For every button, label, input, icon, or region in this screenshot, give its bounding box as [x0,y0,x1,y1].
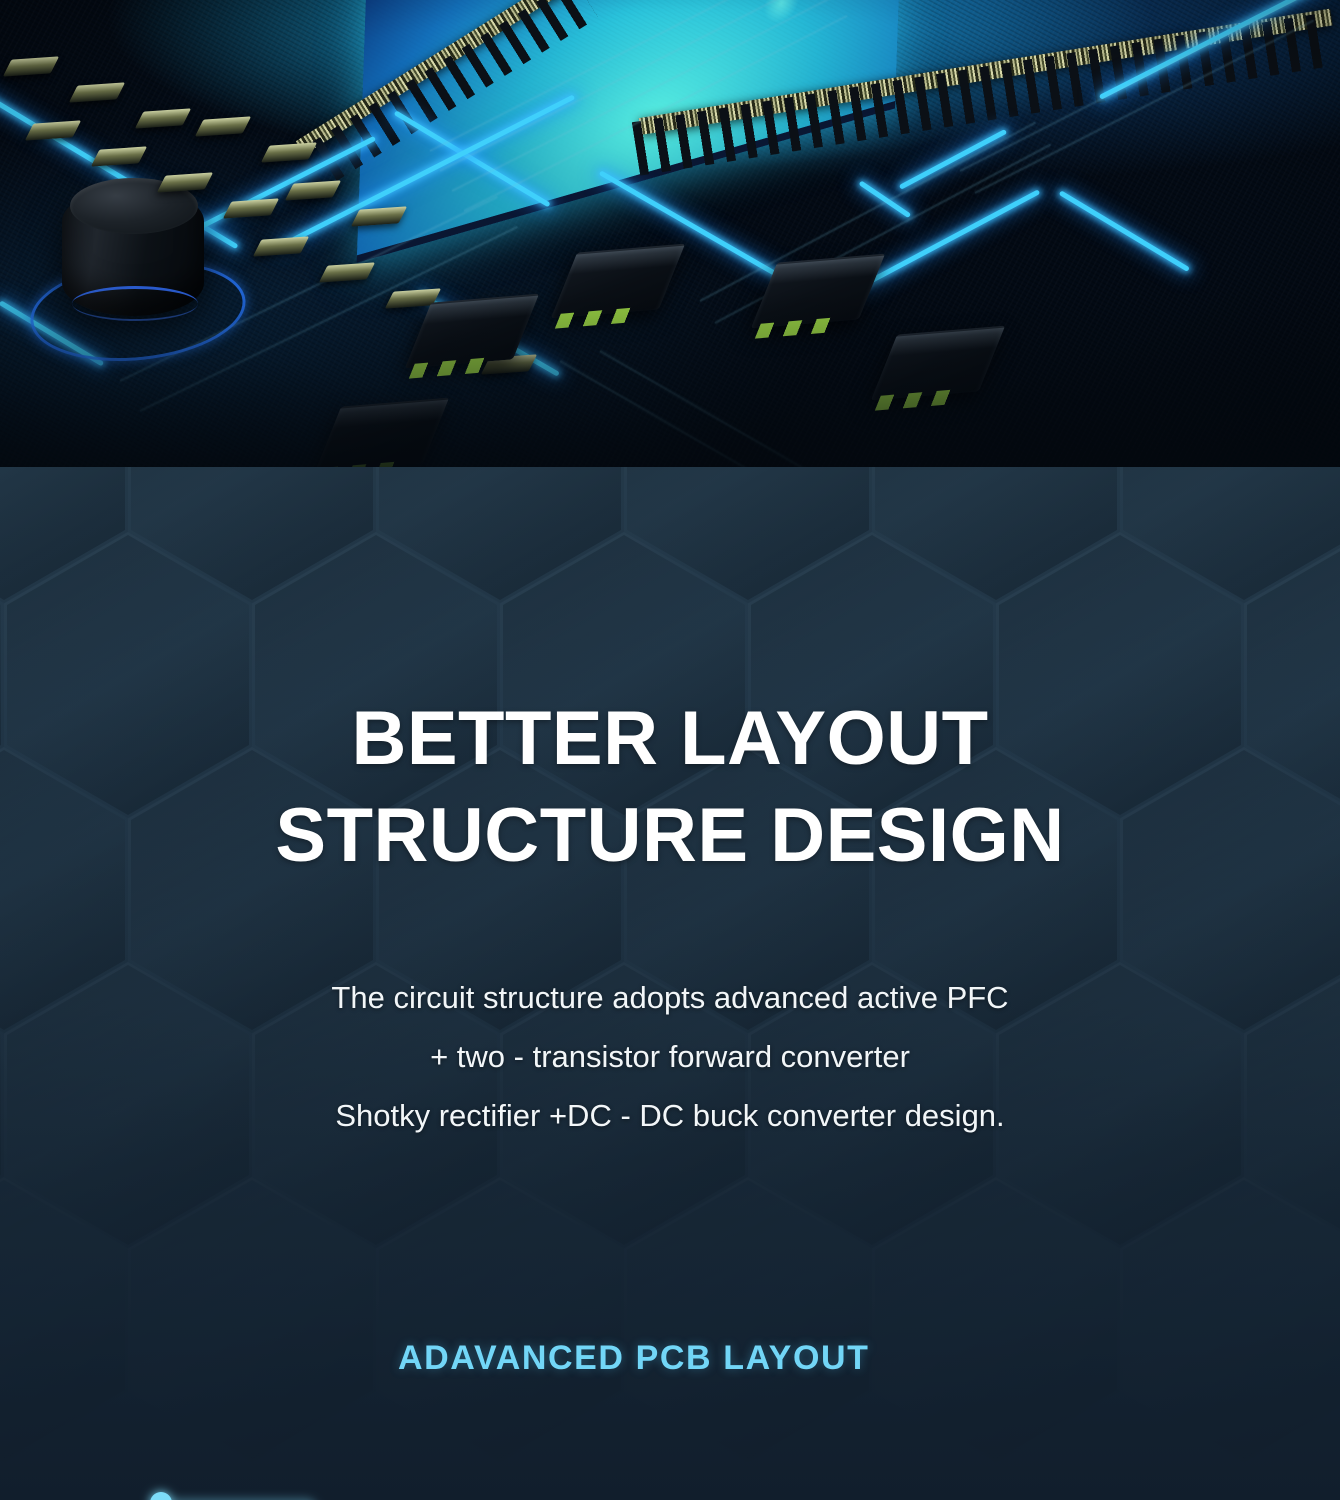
page-title: BETTER LAYOUT STRUCTURE DESIGN [0,690,1340,884]
headline-line-1: BETTER LAYOUT [0,690,1340,787]
hero-photo-circuit-board [0,0,1340,467]
photo-vignette [0,0,1340,467]
product-banner: BETTER LAYOUT STRUCTURE DESIGN The circu… [0,0,1340,1500]
headline-line-2: STRUCTURE DESIGN [0,787,1340,884]
circuit-trace-graphic [0,1310,1340,1500]
description-line-1: The circuit structure adopts advanced ac… [0,968,1340,1027]
description-line-2: + two - transistor forward converter [0,1027,1340,1086]
description-text: The circuit structure adopts advanced ac… [0,968,1340,1145]
circuit-node-dot [150,1492,172,1500]
description-line-3: Shotky rectifier +DC - DC buck converter… [0,1086,1340,1145]
circuit-trace-thin [150,1492,1148,1500]
